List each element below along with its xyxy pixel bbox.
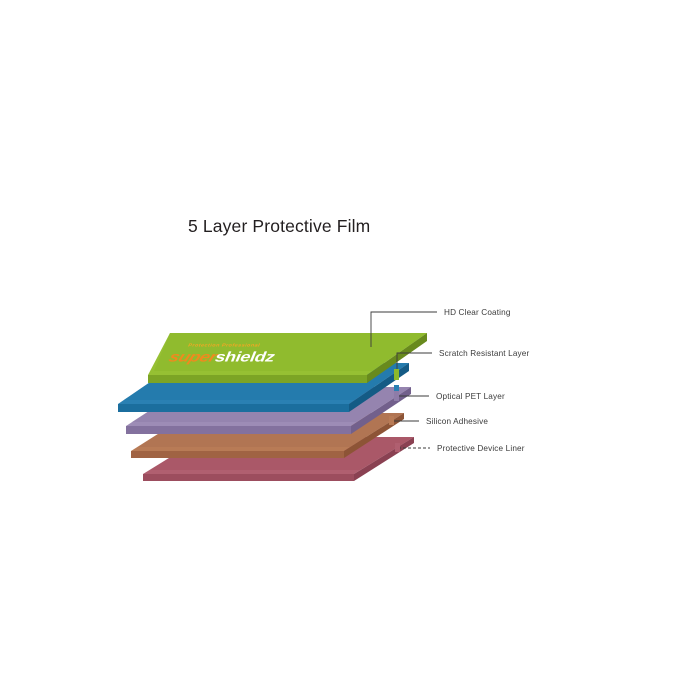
layer-red-front	[143, 474, 354, 481]
edge-marker-green	[394, 369, 399, 380]
layer-green-front	[148, 375, 367, 383]
callout-label-optical-pet: Optical PET Layer	[436, 392, 505, 401]
edge-marker-orange	[389, 416, 394, 425]
edge-marker-red	[395, 443, 400, 452]
layer-blue-front	[118, 404, 349, 412]
diagram-page: 5 Layer Protective Film	[0, 0, 700, 700]
brand-tagline: Protection Professional	[187, 343, 261, 348]
callout-label-protective-device-liner: Protective Device Liner	[437, 444, 525, 453]
brand-name-shieldz: shieldz	[212, 349, 277, 365]
callout-label-hd-clear-coating: HD Clear Coating	[444, 308, 511, 317]
callout-label-scratch-resistant: Scratch Resistant Layer	[439, 349, 529, 358]
edge-marker-purple	[394, 391, 399, 401]
callout-label-silicon-adhesive: Silicon Adhesive	[426, 417, 488, 426]
layer-orange-front	[131, 451, 344, 458]
layer-stack-diagram: Protection Professional super shieldz HD…	[0, 0, 700, 700]
layer-purple-front	[126, 426, 351, 434]
